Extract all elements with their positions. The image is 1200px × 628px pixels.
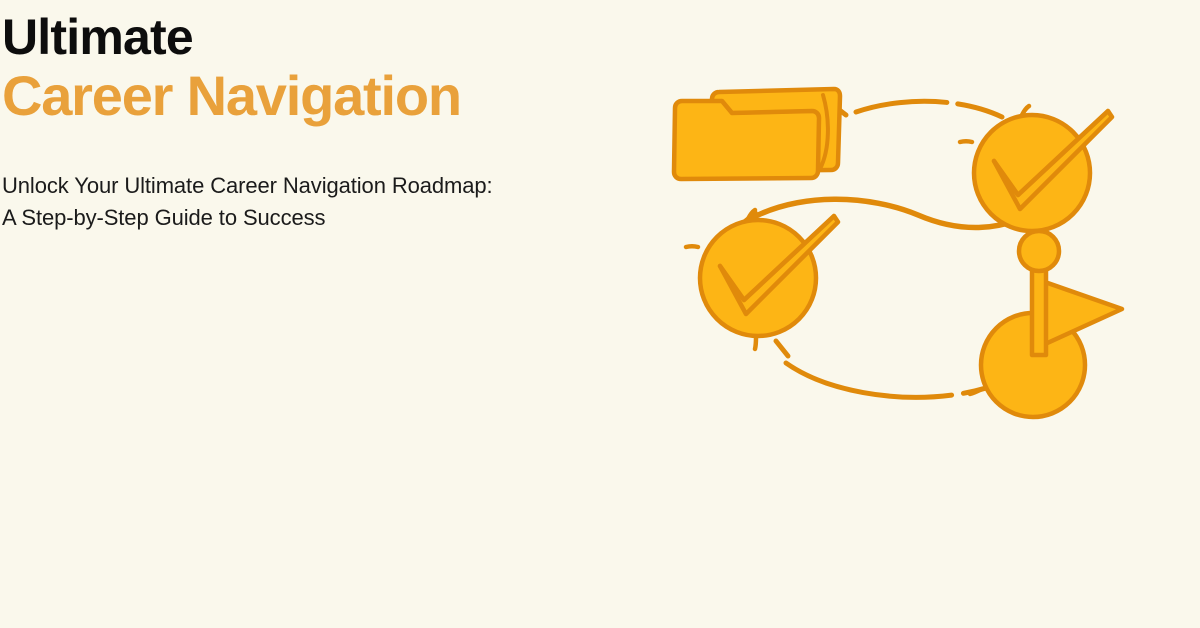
text-column: Ultimate Career Navigation Unlock Your U… xyxy=(0,0,620,234)
flag-marker-icon xyxy=(970,231,1122,417)
checkmark-circle-icon xyxy=(686,210,838,349)
flag-banner xyxy=(1042,281,1122,345)
checkmark-disc xyxy=(974,115,1090,231)
illustration-canvas xyxy=(660,45,1160,445)
checkmark-circle-icon xyxy=(960,106,1112,245)
headline-line-accent: Career Navigation xyxy=(2,67,620,124)
folder-icon xyxy=(674,89,840,179)
checkmark-disc xyxy=(700,220,816,336)
subtitle: Unlock Your Ultimate Career Navigation R… xyxy=(2,124,502,234)
path-check2-to-flag xyxy=(776,341,1000,397)
career-roadmap-illustration xyxy=(660,45,1160,445)
flag-finial xyxy=(1019,231,1059,271)
page-title: Ultimate Career Navigation xyxy=(2,12,620,124)
headline-line-primary: Ultimate xyxy=(2,12,620,65)
flag-pole xyxy=(1032,260,1046,355)
promo-banner: Ultimate Career Navigation Unlock Your U… xyxy=(0,0,1200,628)
